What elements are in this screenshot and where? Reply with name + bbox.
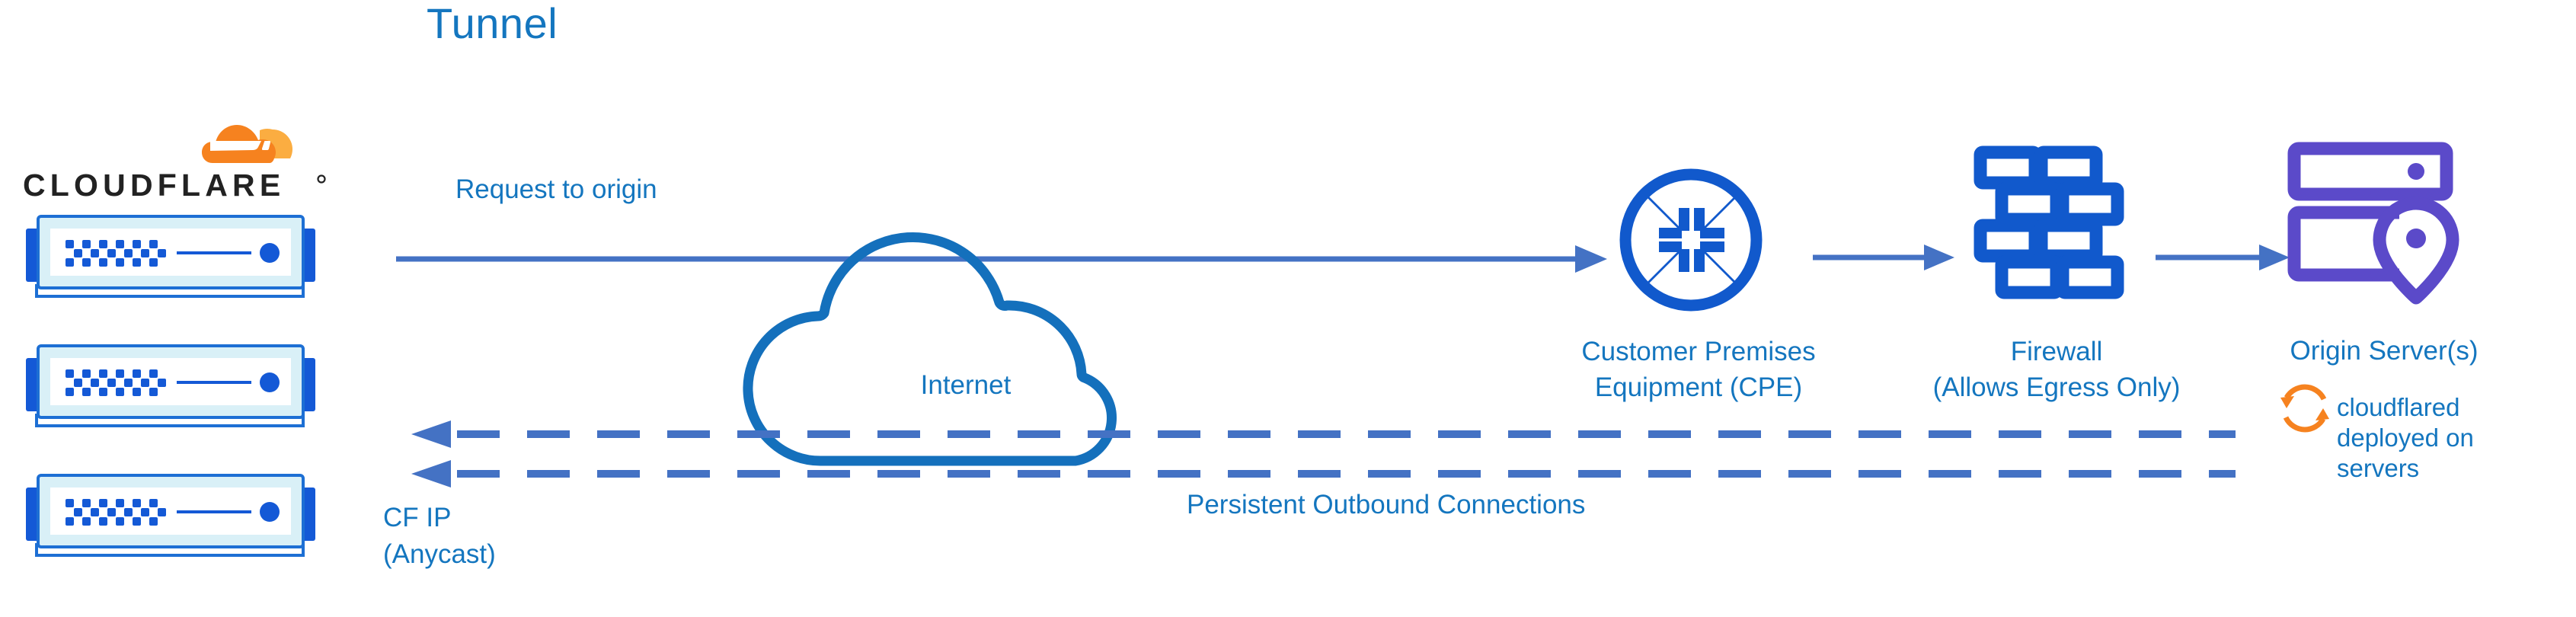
cpe-to-firewall-arrow (1813, 242, 1965, 273)
cpe-label-line1: Customer Premises (1539, 334, 1858, 369)
firewall-label-line1: Firewall (1889, 334, 2224, 369)
tunnel-diagram: Tunnel CLOUDFLARE (0, 0, 2576, 617)
cloudflare-wordmark: CLOUDFLARE (23, 169, 328, 203)
server-rack-icon-3 (15, 472, 328, 556)
origin-server-pin-icon (2285, 141, 2460, 301)
cloudflared-note-label: cloudflared deployed on servers (2337, 392, 2542, 484)
cpe-label-line2: Equipment (CPE) (1539, 369, 1858, 405)
server-rack-icon-1 (15, 213, 328, 297)
firewall-label-line2: (Allows Egress Only) (1889, 369, 2224, 405)
cpe-label: Customer Premises Equipment (CPE) (1539, 334, 1858, 405)
request-to-origin-label: Request to origin (455, 172, 657, 206)
server-rack-icon-2 (15, 343, 328, 427)
internet-label: Internet (859, 368, 1072, 402)
origin-servers-label: Origin Server(s) (2232, 334, 2536, 368)
firewall-label: Firewall (Allows Egress Only) (1889, 334, 2224, 405)
page-title: Tunnel (427, 0, 558, 48)
cf-ip-label-line2: (Anycast) (383, 536, 612, 573)
cloudflare-logo: CLOUDFLARE (23, 107, 335, 206)
router-arrows-circle-icon (1615, 164, 1767, 316)
cf-ip-label-line1: CF IP (383, 500, 612, 536)
cloudflare-cloud-mark-icon (175, 107, 308, 171)
cf-ip-anycast-label: CF IP (Anycast) (383, 500, 612, 573)
persistent-outbound-connections-label: Persistent Outbound Connections (1187, 488, 1585, 522)
sync-arrows-icon (2277, 381, 2332, 436)
brick-wall-firewall-icon (1973, 145, 2133, 297)
firewall-to-origin-arrow (2156, 242, 2300, 273)
svg-text:CLOUDFLARE: CLOUDFLARE (23, 168, 285, 203)
